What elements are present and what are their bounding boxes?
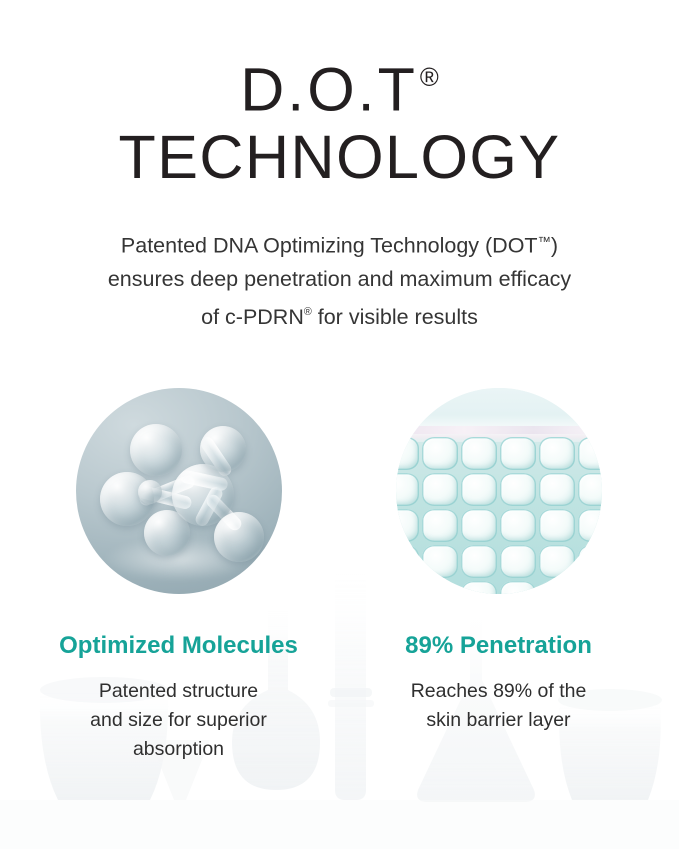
lattice-cell	[578, 437, 602, 470]
subtitle-line-3: of c-PDRN® for visible results	[0, 296, 679, 334]
lattice-cell	[539, 581, 575, 594]
page-title-text: D.O.T	[240, 55, 418, 123]
skin-barrier-lattice-illustration	[396, 388, 602, 594]
feature-description-line-3: absorption	[90, 735, 267, 764]
dot-technology-infographic: D.O.T® TECHNOLOGY Patented DNA Optimizin…	[0, 0, 679, 849]
feature-title: 89% Penetration	[405, 632, 592, 660]
lattice-cell	[578, 509, 602, 542]
subtitle-line-2: ensures deep penetration and maximum eff…	[0, 263, 679, 296]
trademark-icon: ™	[538, 234, 551, 249]
subtitle-line-3-text-a: of c-PDRN	[201, 305, 304, 329]
lattice-cell	[422, 473, 458, 506]
lattice-cell	[461, 473, 497, 506]
feature-description-line-1: Patented structure	[90, 677, 267, 706]
feature-title: Optimized Molecules	[59, 632, 298, 660]
lattice-cell	[578, 581, 602, 594]
feature-row: Optimized Molecules Patented structure a…	[0, 388, 679, 764]
page-subtitle: Patented DNA Optimizing Technology (DOT™…	[0, 225, 679, 334]
lattice-cell	[422, 581, 458, 594]
lattice-cell	[461, 581, 497, 594]
page-title: D.O.T® TECHNOLOGY	[0, 44, 679, 191]
lattice-cell	[396, 473, 420, 506]
lattice-cell	[422, 509, 458, 542]
lattice-cell	[422, 545, 458, 578]
lattice-cell	[422, 437, 458, 470]
registered-trademark-icon: ®	[420, 64, 439, 92]
lattice-cell	[578, 473, 602, 506]
subtitle-line-1-text-b: )	[551, 234, 558, 258]
feature-penetration: 89% Penetration Reaches 89% of the skin …	[339, 388, 659, 735]
lattice-cell	[396, 545, 420, 578]
subtitle-line-1: Patented DNA Optimizing Technology (DOT™…	[0, 225, 679, 263]
lattice-cell	[396, 581, 420, 594]
lattice-cell	[500, 545, 536, 578]
lattice-grid	[396, 437, 602, 594]
feature-description: Patented structure and size for superior…	[90, 677, 267, 764]
lattice-cell	[539, 545, 575, 578]
feature-description: Reaches 89% of the skin barrier layer	[411, 677, 587, 735]
subtitle-line-1-text-a: Patented DNA Optimizing Technology (DOT	[121, 234, 538, 258]
molecule-illustration	[76, 388, 282, 594]
registered-trademark-small-icon: ®	[304, 306, 312, 318]
feature-description-line-2: and size for superior	[90, 706, 267, 735]
lattice-cell	[500, 581, 536, 594]
page-title-line-2: TECHNOLOGY	[0, 123, 679, 191]
molecule-atom	[130, 424, 182, 476]
lattice-cell	[396, 437, 420, 470]
lattice-cell	[396, 509, 420, 542]
lattice-cell	[500, 473, 536, 506]
page-title-line-1: D.O.T®	[0, 44, 679, 123]
molecule-atom	[214, 512, 264, 562]
lattice-cell	[461, 509, 497, 542]
subtitle-line-3-text-b: for visible results	[312, 305, 478, 329]
lattice-cell	[500, 437, 536, 470]
feature-optimized-molecules: Optimized Molecules Patented structure a…	[19, 388, 339, 764]
lattice-cell	[578, 545, 602, 578]
lattice-cell	[461, 437, 497, 470]
molecule-atom	[200, 426, 246, 472]
molecule-atom	[138, 480, 162, 504]
lattice-cell	[539, 509, 575, 542]
feature-description-line-1: Reaches 89% of the	[411, 677, 587, 706]
skin-surface-band	[396, 388, 602, 442]
lattice-cell	[500, 509, 536, 542]
feature-description-line-2: skin barrier layer	[411, 706, 587, 735]
lattice-cell	[461, 545, 497, 578]
lattice-cell	[539, 473, 575, 506]
lattice-cell	[539, 437, 575, 470]
